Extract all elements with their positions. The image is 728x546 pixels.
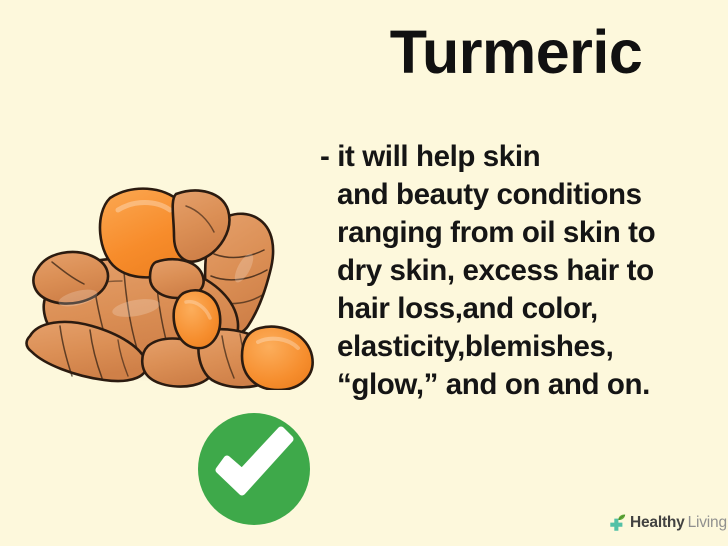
watermark-healthy-living: Healthy Living — [607, 513, 727, 533]
turmeric-root-illustration — [8, 150, 328, 390]
infographic-canvas: Turmeric — [0, 0, 728, 546]
body-line: and beauty conditions — [320, 176, 724, 214]
body-line: dry skin, excess hair to — [320, 252, 724, 290]
watermark-living-label: Living — [688, 515, 727, 531]
page-title: Turmeric — [316, 18, 716, 86]
body-text: - it will help skin and beauty condition… — [320, 138, 724, 404]
body-line: - it will help skin — [320, 138, 724, 176]
green-check-circle-icon — [197, 412, 311, 526]
health-cross-leaf-icon — [607, 513, 627, 533]
body-line: hair loss,and color, — [320, 290, 724, 328]
watermark-healthy-label: Healthy — [630, 515, 685, 531]
body-line: ranging from oil skin to — [320, 214, 724, 252]
body-line: “glow,” and on and on. — [320, 366, 724, 404]
body-line: elasticity,blemishes, — [320, 328, 724, 366]
